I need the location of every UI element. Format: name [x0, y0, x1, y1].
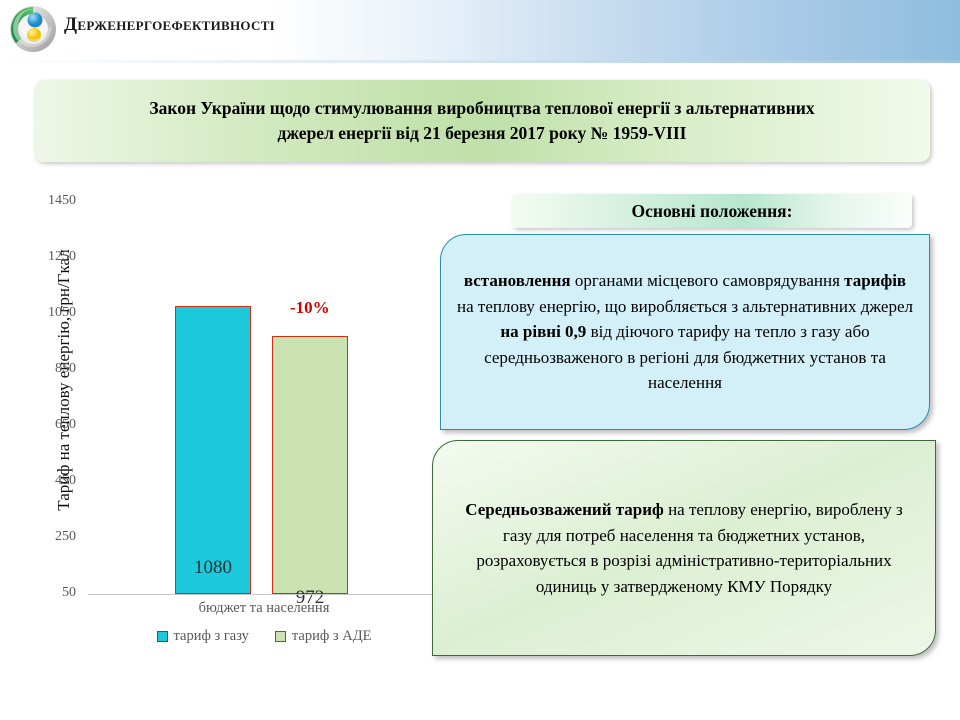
legend-entry-2[interactable]: тариф з АДЕ	[275, 628, 372, 645]
callout-green-text: Середньозважений тариф на теплову енергі…	[451, 497, 917, 599]
law-title-banner: Закон України щодо стимулювання виробниц…	[34, 80, 930, 162]
x-axis-category-label: бюджет та населення	[88, 600, 440, 617]
law-title-text: Закон України щодо стимулювання виробниц…	[149, 96, 814, 147]
legend-label-2: тариф з АДЕ	[292, 628, 372, 645]
legend-entry-1[interactable]: тариф з газу	[157, 628, 249, 645]
chart-legend: тариф з газутариф з АДЕ	[88, 628, 440, 645]
y-tick-650: 650	[24, 417, 76, 433]
legend-label-1: тариф з газу	[174, 628, 249, 645]
provisions-header-text: Основні положення:	[632, 201, 793, 222]
y-tick-1450: 1450	[24, 193, 76, 209]
x-axis-line	[88, 594, 440, 595]
bar-2: 972	[272, 336, 348, 594]
callout-green-segment-0: Середньозважений тариф	[465, 500, 664, 519]
delta-annotation: -10%	[290, 298, 330, 318]
callout-box-tariff-setting: встановлення органами місцевого самовряд…	[440, 234, 930, 430]
legend-swatch-1	[157, 631, 168, 642]
y-axis-title: Тариф на теплову енергію, грн/Гкал	[54, 220, 74, 540]
provisions-header-box: Основні положення:	[512, 194, 912, 228]
callout-blue-segment-1: органами місцевого самоврядування	[571, 271, 845, 290]
organization-name: Держенергоефективності	[64, 14, 275, 36]
law-title-line-2: джерел енергії від 21 березня 2017 року …	[277, 123, 686, 143]
y-tick-250: 250	[24, 529, 76, 545]
plot-area: 1080972	[88, 190, 440, 594]
y-tick-1050: 1050	[24, 305, 76, 321]
y-tick-50: 50	[24, 585, 76, 601]
callout-blue-segment-0: встановлення	[464, 271, 571, 290]
legend-swatch-2	[275, 631, 286, 642]
callout-blue-segment-2: тарифів	[844, 271, 906, 290]
y-tick-450: 450	[24, 473, 76, 489]
energy-efficiency-logo-icon	[8, 4, 58, 54]
bar-value-1: 1080	[176, 557, 250, 579]
callout-blue-segment-4: на рівні 0,9	[500, 322, 586, 341]
tariff-bar-chart: Тариф на теплову енергію, грн/Гкал 50250…	[0, 180, 470, 660]
law-title-line-1: Закон України щодо стимулювання виробниц…	[149, 98, 814, 118]
callout-box-weighted-average-tariff: Середньозважений тариф на теплову енергі…	[432, 440, 936, 656]
callout-blue-text: встановлення органами місцевого самовряд…	[457, 268, 913, 396]
header-band-underline	[0, 60, 960, 63]
bar-1: 1080	[175, 306, 251, 594]
y-tick-850: 850	[24, 361, 76, 377]
callout-blue-segment-3: на теплову енергію, що виробляється з ал…	[457, 297, 913, 316]
y-tick-1250: 1250	[24, 249, 76, 265]
